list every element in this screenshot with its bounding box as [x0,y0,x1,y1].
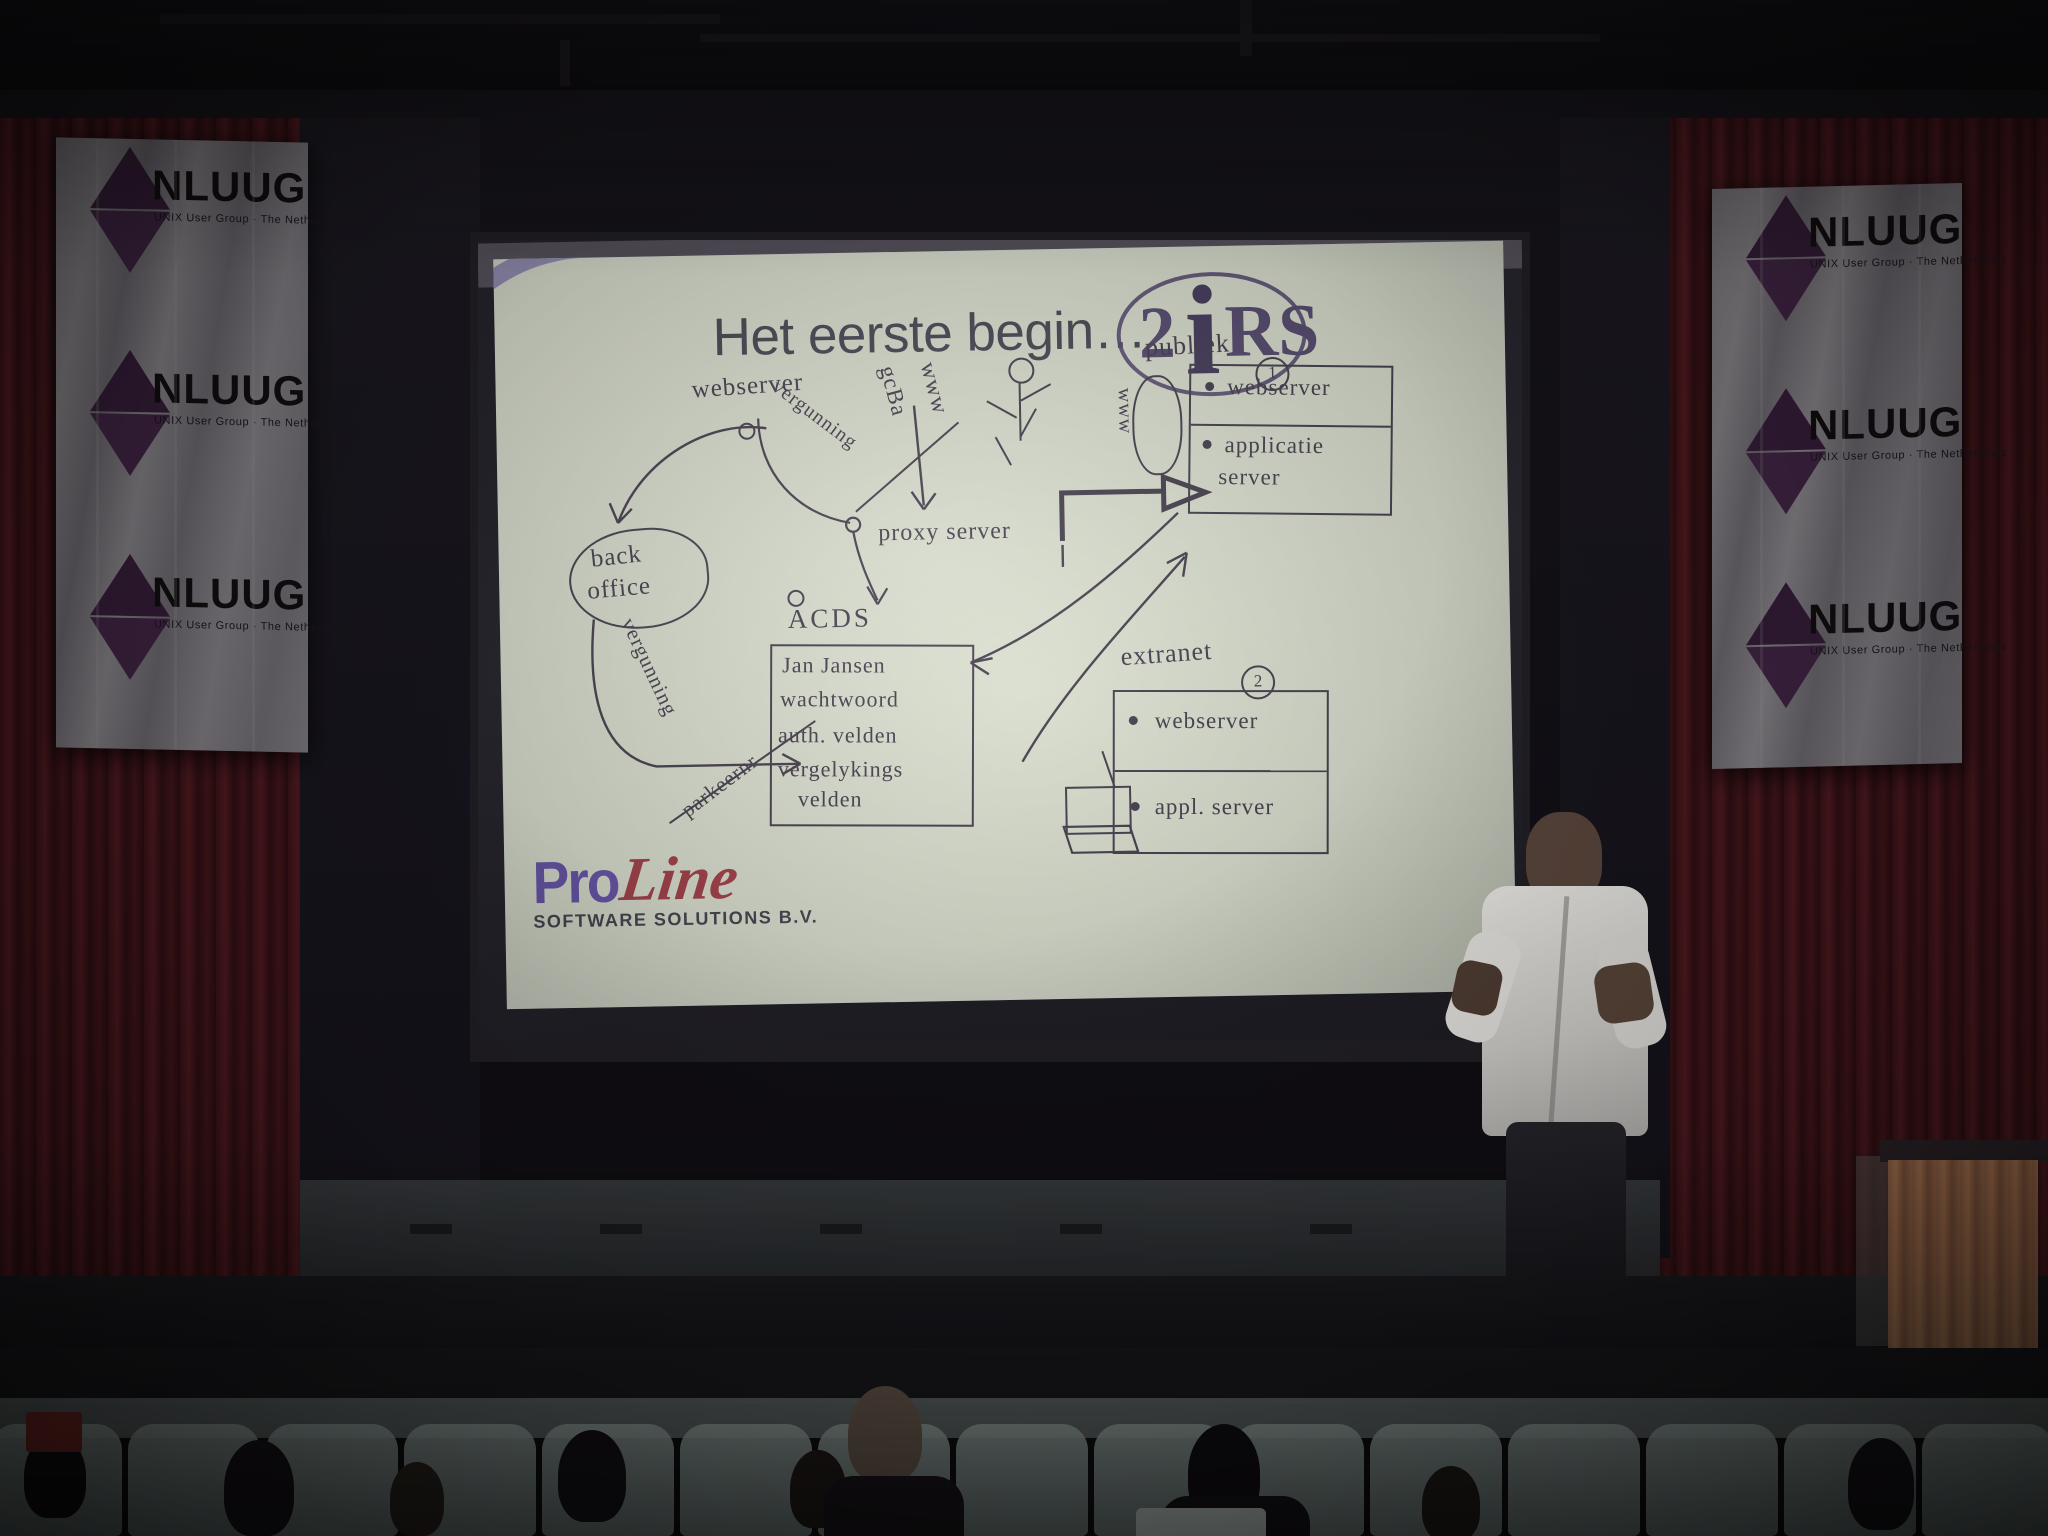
presenter-right-hand [1592,960,1656,1025]
banner-fold [96,138,99,748]
hw-publiek-box: webserver applicatie server [1188,364,1393,516]
hw-acds-row-1: wachtwoord [780,686,899,712]
apron-vent [1060,1224,1102,1234]
banner-fold [174,140,177,750]
ceiling-beam [700,34,1600,42]
nluug-wordmark: NLUUG [1808,398,1962,450]
proline-line-word: Line [616,843,742,916]
proline-logo: ProLine SOFTWARE SOLUTIONS B.V. [532,841,818,932]
hw-extranet-row-0: webserver [1155,708,1259,734]
hw-acds-label: ACDS [788,602,873,635]
hw-acds-box: Jan Jansen wachtwoord auth. velden verge… [770,644,974,827]
hw-acds-row-2: auth. velden [778,722,898,748]
apron-vent [600,1224,642,1234]
apron-vent [820,1224,862,1234]
audience-head [224,1440,294,1536]
table-top [1880,1140,2048,1162]
nluug-wordmark: NLUUG [1808,592,1962,644]
banner-fold [1842,186,1845,766]
proscenium-panel-left [300,118,480,1258]
hw-arrow-to-backoffice [580,414,772,547]
audience-seat [956,1424,1088,1536]
audience-head [1848,1438,1914,1530]
hw-extranet-row-1: appl. server [1155,794,1274,820]
hw-acds-row-4: velden [798,786,863,812]
draped-side-table [1880,1140,2048,1370]
hw-extranet-box: webserver appl. server [1113,690,1329,854]
hw-publiek-row-2: server [1218,464,1280,491]
hw-bullet [1131,802,1140,811]
hw-acds-row-0: Jan Jansen [782,652,886,678]
hw-box-divider [1115,770,1327,772]
audience-laptop [1136,1508,1266,1536]
proline-pro-word: Pro [532,847,619,918]
hw-stick-leg [1020,408,1037,437]
audience-torso [824,1476,964,1536]
presenter [1448,812,1678,1372]
ceiling-beam [160,14,720,24]
ceiling-rod [1240,0,1252,56]
banner-fold [1918,184,1921,764]
projected-slide: Het eerste begin… 2 i RS webserver vergu… [493,241,1517,1009]
apron-vent [410,1224,452,1234]
banner-fold [252,141,255,751]
hw-publiek-row-1: applicatie [1224,432,1324,459]
hw-back-office-line-2: office [586,572,652,606]
hw-back-office-line-1: back [589,540,643,573]
audience-head [1422,1466,1480,1536]
hw-bullet [1205,382,1214,391]
hw-box-divider [1191,424,1391,428]
table-skirt [1888,1160,2038,1370]
hw-stick-head [1008,357,1034,383]
apron-vent [1310,1224,1352,1234]
hw-www-oval [1131,375,1183,476]
projection-screen: Het eerste begin… 2 i RS webserver vergu… [478,240,1522,1040]
hw-acds-row-3: vergelykings [778,756,903,782]
banner-fold [1760,188,1763,768]
presenter-legs [1506,1122,1626,1372]
audience-seat [1922,1424,2048,1536]
hw-arrow-to-proxy [886,401,948,532]
nluug-wordmark: NLUUG [1808,205,1962,257]
audience-head [848,1386,922,1482]
hw-stick-arm [986,400,1017,418]
hw-www-oval-label: www [1113,388,1137,435]
ceiling-rod [560,40,570,86]
audience-area [0,1348,2048,1536]
audience-head [558,1430,626,1522]
hw-publiek-row-0: webserver [1227,374,1331,401]
slide-title: Het eerste begin… [712,299,1146,368]
exit-sign [26,1412,82,1452]
hw-stick-arm [1020,383,1051,401]
hw-publiek-label: publiek [1144,328,1230,362]
audience-seat [1646,1424,1778,1536]
hw-bullet [1129,716,1138,725]
hw-stick-leg [995,437,1012,466]
photo-scene: NLUUG UNIX User Group · The Netherlands … [0,0,2048,1536]
nluug-banner-left: NLUUG UNIX User Group · The Netherlands … [56,137,308,752]
hw-bullet [1203,440,1212,449]
nluug-banner-right: NLUUG UNIX User Group · The Netherlands … [1712,183,1962,769]
audience-back-wall [0,1348,2048,1404]
audience-head [390,1462,444,1536]
audience-seat [1508,1424,1640,1536]
